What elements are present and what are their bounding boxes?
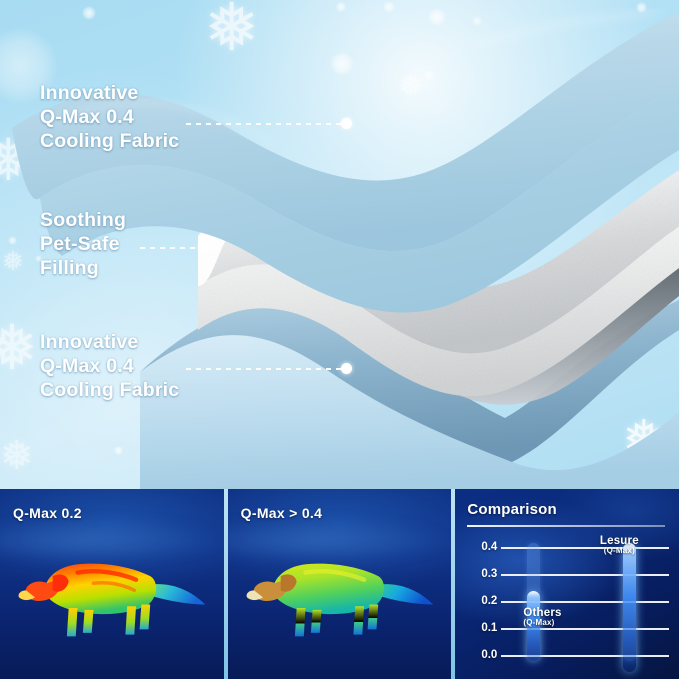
callout-filling: Soothing Pet-Safe Filling [40, 209, 126, 280]
bar-label-sub: (Q-Max) [523, 618, 593, 627]
callout-text: Innovative Q-Max 0.4 Cooling Fabric [40, 82, 179, 153]
chart-title: Comparison [467, 501, 557, 518]
hero-section: ❅ ❅ ❅ ❅ ❅ ❅ ❅ ❅ [0, 0, 679, 489]
chart-bar-others[interactable] [527, 543, 540, 661]
callout-top-fabric: Innovative Q-Max 0.4 Cooling Fabric [40, 82, 179, 153]
leader-line-middle [140, 247, 202, 249]
callout-text: Soothing Pet-Safe Filling [40, 209, 126, 280]
leader-dot-top [341, 118, 352, 129]
infographic-root: ❅ ❅ ❅ ❅ ❅ ❅ ❅ ❅ [0, 0, 679, 679]
leader-dot-bottom [341, 363, 352, 374]
thermal-dog-cool-icon [237, 546, 445, 652]
bar-label-lesure: Lesure (Q-Max) [580, 535, 658, 555]
thermal-dog-warm-icon [9, 546, 217, 652]
thermal-label-right: Q-Max > 0.4 [241, 505, 323, 521]
chart-ytick-label: 0.3 [467, 568, 497, 580]
chart-bar-lesure[interactable] [623, 543, 636, 661]
callout-bottom-fabric: Innovative Q-Max 0.4 Cooling Fabric [40, 331, 179, 402]
thermal-panel-qmax-04: Q-Max > 0.4 [228, 489, 452, 679]
chart-bar-glow [623, 543, 636, 672]
bar-label-others: Others (Q-Max) [523, 607, 593, 627]
leader-line-bottom [186, 368, 344, 370]
thermal-panel-qmax-02: Q-Max 0.2 [0, 489, 224, 679]
bar-label-sub: (Q-Max) [580, 546, 658, 555]
thermal-label-left: Q-Max 0.2 [13, 505, 82, 521]
comparison-chart-panel: Comparison 0.40.30.20.10.0 Lesure (Q-Max… [455, 489, 679, 679]
leader-line-top [186, 123, 344, 125]
callout-text: Innovative Q-Max 0.4 Cooling Fabric [40, 331, 179, 402]
chart-ytick-label: 0.4 [467, 541, 497, 553]
chart-title-rule [467, 525, 665, 527]
comparison-panels: Q-Max 0.2 [0, 489, 679, 679]
leader-dot-middle [199, 242, 210, 253]
chart-ytick-label: 0.0 [467, 649, 497, 661]
chart-ytick-label: 0.1 [467, 622, 497, 634]
chart-ytick-label: 0.2 [467, 595, 497, 607]
